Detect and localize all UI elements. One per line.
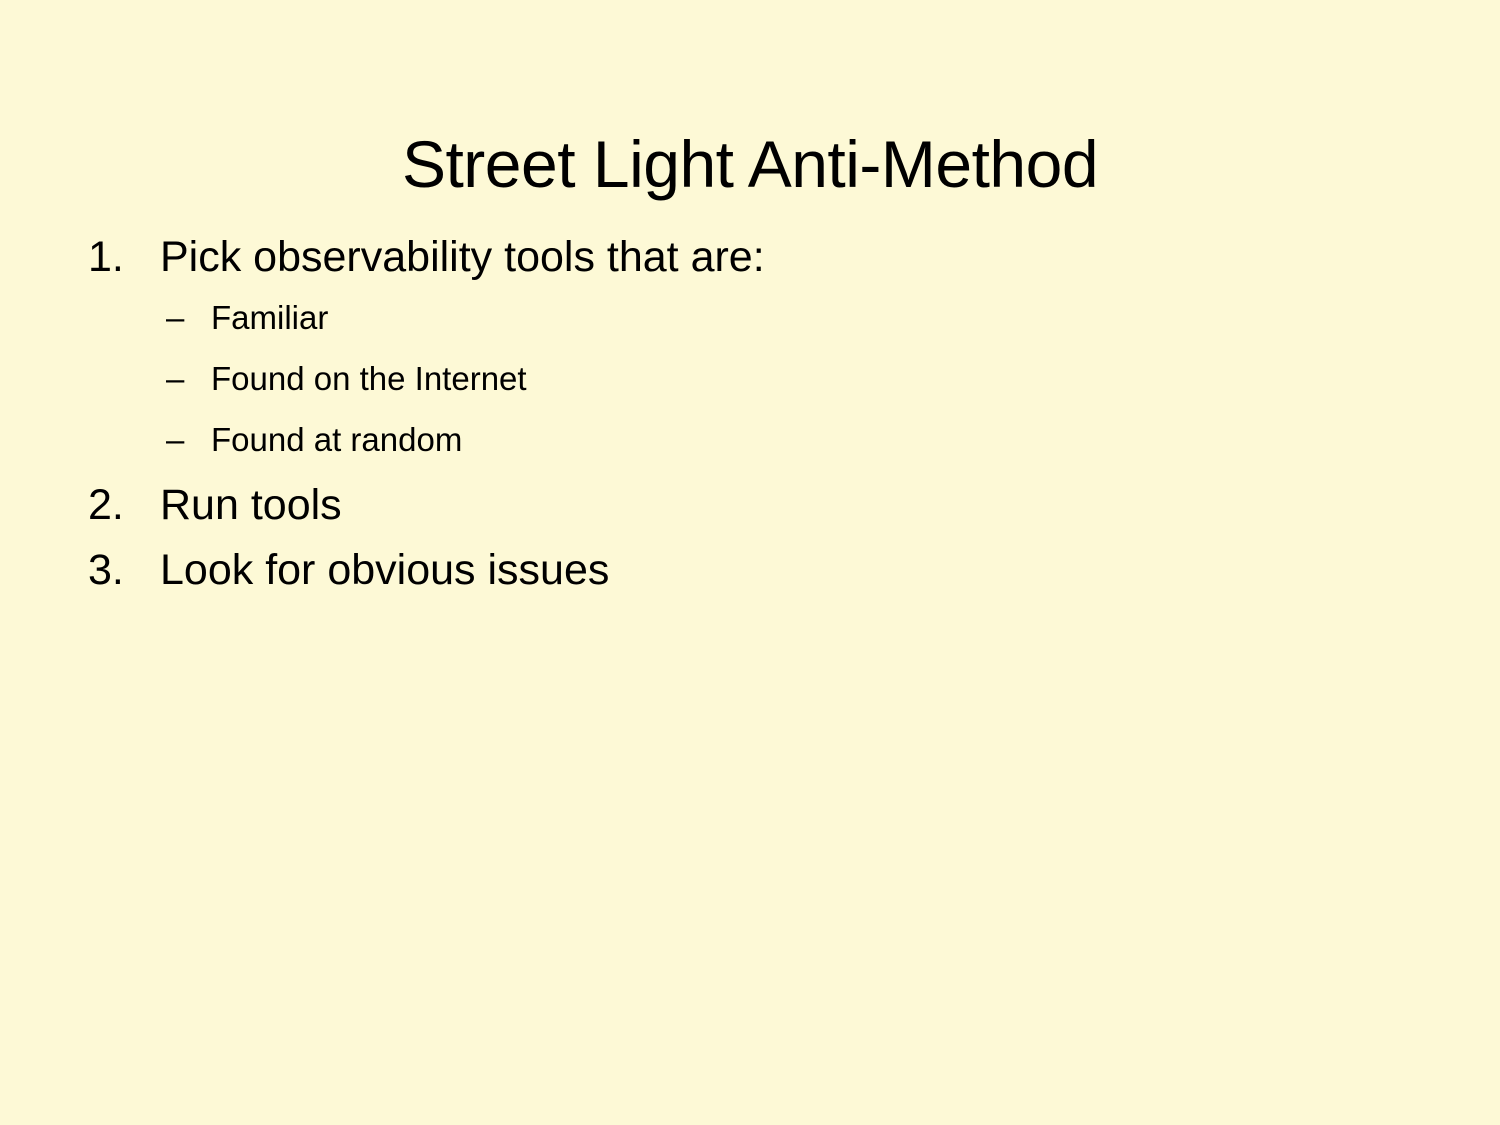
- list-marker: 3.: [88, 549, 160, 592]
- sub-list-item: – Found at random: [88, 423, 1418, 456]
- list-item-label: Look for obvious issues: [160, 549, 1418, 592]
- sub-list-item-label: Familiar: [211, 301, 1418, 334]
- sub-list: – Familiar – Found on the Internet – Fou…: [88, 301, 1418, 456]
- list-marker: 1.: [88, 236, 160, 279]
- list-item: 1. Pick observability tools that are:: [88, 236, 1418, 279]
- sub-list-item: – Found on the Internet: [88, 362, 1418, 395]
- content-list: 1. Pick observability tools that are: – …: [88, 236, 1418, 614]
- list-item: 2. Run tools: [88, 484, 1418, 527]
- list-item-label: Pick observability tools that are:: [160, 236, 1418, 279]
- list-marker: 2.: [88, 484, 160, 527]
- dash-bullet-icon: –: [166, 423, 211, 456]
- sub-list-item-label: Found on the Internet: [211, 362, 1418, 395]
- sub-list-item: – Familiar: [88, 301, 1418, 334]
- list-item: 3. Look for obvious issues: [88, 549, 1418, 592]
- sub-list-item-label: Found at random: [211, 423, 1418, 456]
- dash-bullet-icon: –: [166, 301, 211, 334]
- page-title: Street Light Anti-Method: [0, 130, 1500, 199]
- list-item-label: Run tools: [160, 484, 1418, 527]
- slide-canvas: Street Light Anti-Method 1. Pick observa…: [0, 0, 1500, 1125]
- dash-bullet-icon: –: [166, 362, 211, 395]
- list-tail: 2. Run tools 3. Look for obvious issues: [88, 484, 1418, 592]
